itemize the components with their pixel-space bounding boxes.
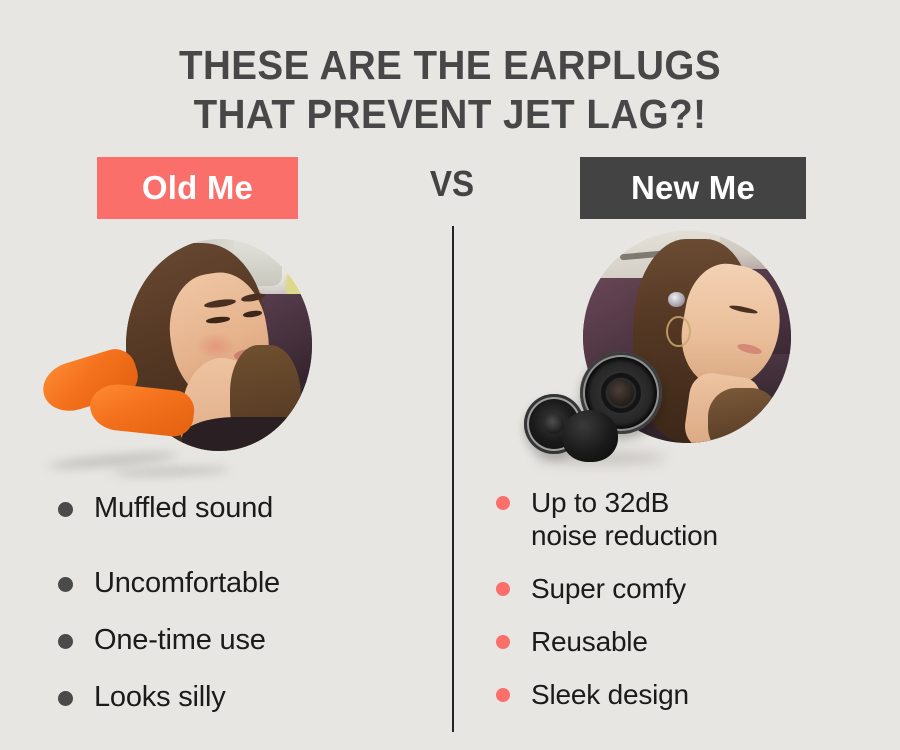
list-item: Reusable [496,625,856,658]
list-item: Uncomfortable [58,567,428,600]
list-item: Sleek design [496,678,856,711]
hair-front [708,388,779,443]
versus-label: VS [408,163,496,205]
headline-line-1: THESE ARE THE EARPLUGS [27,41,873,90]
badge-old-me-label: Old Me [142,169,253,207]
list-item-label: Looks silly [94,681,226,714]
earplug-silicone-tip-icon [562,410,618,462]
bullet-icon [58,502,73,517]
list-item-label: Reusable [531,625,648,658]
hoop-earring-icon [666,316,691,348]
orange-foam-earplugs [42,357,217,435]
feature-list-old-me: Muffled sound Uncomfortable One-time use… [58,492,428,714]
comparison-infographic: THESE ARE THE EARPLUGS THAT PREVENT JET … [0,0,900,750]
column-divider [452,226,454,732]
feature-list-new-me: Up to 32dB noise reduction Super comfy R… [496,486,856,711]
list-item-label: One-time use [94,624,266,657]
list-item: Super comfy [496,572,856,605]
bullet-icon [496,582,510,596]
foam-earplug-icon-b [88,382,196,439]
badge-new-me: New Me [580,157,806,219]
list-item-label: Sleek design [531,678,689,711]
list-item: Looks silly [58,681,428,714]
bullet-icon [58,691,73,706]
list-item-label: Super comfy [531,572,686,605]
list-item: One-time use [58,624,428,657]
badge-new-me-label: New Me [631,169,755,207]
list-item: Muffled sound [58,492,428,525]
earplug-shadow-left-b [112,466,230,477]
earplug-core [608,380,634,406]
list-item-label: Up to 32dB noise reduction [531,486,718,552]
bullet-icon [58,577,73,592]
badge-old-me: Old Me [97,157,298,219]
headline-line-2: THAT PREVENT JET LAG?! [27,90,873,139]
list-item: Up to 32dB noise reduction [496,486,856,552]
page-title: THESE ARE THE EARPLUGS THAT PREVENT JET … [27,41,873,139]
bullet-icon [496,688,510,702]
bullet-icon [496,496,510,510]
earplug-core [544,414,564,434]
list-item-label: Uncomfortable [94,567,280,600]
black-reusable-earplugs [524,352,664,462]
bullet-icon [58,634,73,649]
bullet-icon [496,635,510,649]
cheek-blush [195,332,236,360]
list-item-label: Muffled sound [94,492,273,525]
